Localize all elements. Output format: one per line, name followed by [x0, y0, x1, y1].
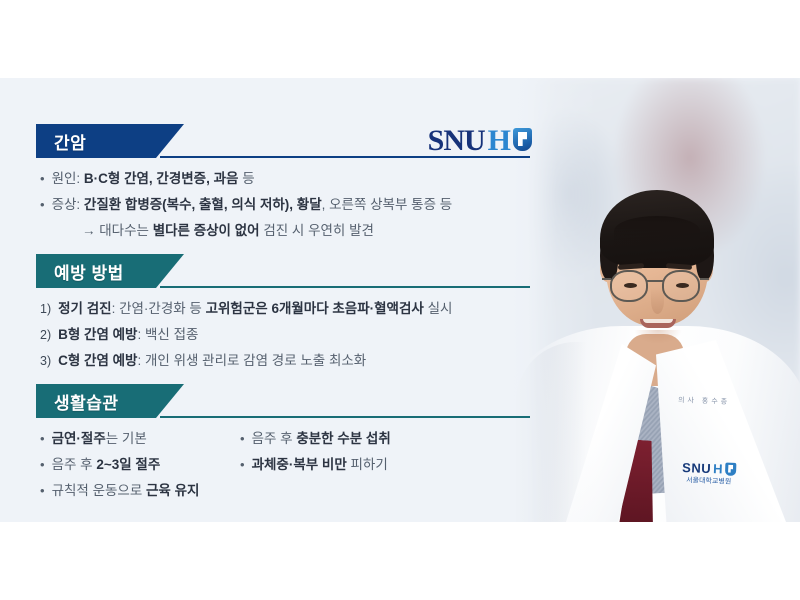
bullet-marker: • — [40, 452, 45, 478]
list-item-text: 규칙적 운동으로 근육 유지 — [52, 478, 200, 504]
list-item: • 과체중·복부 비만 피하기 — [240, 452, 391, 478]
list-item: 3) C형 간염 예방: 개인 위생 관리로 감염 경로 노출 최소화 — [40, 348, 520, 374]
bullet-marker: • — [240, 426, 245, 452]
list-item: • 증상: 간질환 합병증(복수, 출혈, 의식 저하), 황달, 오른쪽 상복… — [40, 192, 520, 218]
section-title-lifestyle: 생활습관 — [36, 384, 184, 418]
list-item-text: 원인: B·C형 간염, 간경변증, 과음 등 — [52, 166, 255, 192]
list-item: → 대다수는 별다른 증상이 없어 검진 시 우연히 발견 — [40, 218, 520, 244]
ordinal-marker: 2) — [40, 322, 51, 348]
list-item-text: B형 간염 예방: 백신 접종 — [58, 322, 198, 348]
snuh-logo-h: H — [488, 126, 510, 156]
section-title-liver-cancer: 간암 — [36, 124, 184, 158]
infographic-card: 의사 홍수종 SNUH 서울대학교병원 — [0, 78, 800, 522]
snuh-logo-snu: SNU — [428, 126, 485, 156]
bullet-marker: • — [40, 166, 45, 192]
list-item-text: 음주 후 충분한 수분 섭취 — [252, 426, 391, 452]
section-header-row: 생활습관 — [0, 384, 520, 418]
list-item: • 음주 후 충분한 수분 섭취 — [240, 426, 391, 452]
ordinal-marker: 3) — [40, 348, 51, 374]
list-item-text: C형 간염 예방: 개인 위생 관리로 감염 경로 노출 최소화 — [58, 348, 366, 374]
ordinal-marker: 1) — [40, 296, 51, 322]
list-item: 2) B형 간염 예방: 백신 접종 — [40, 322, 520, 348]
list-item: • 음주 후 2~3일 절주 — [40, 452, 240, 478]
lifestyle-column-right: • 음주 후 충분한 수분 섭취 • 과체중·복부 비만 피하기 — [240, 426, 391, 504]
section-body: 1) 정기 검진: 간염·간경화 등 고위험군은 6개월마다 초음파·혈액검사 … — [0, 288, 520, 374]
section-body: • 금연·절주는 기본 • 음주 후 2~3일 절주 • 규칙적 운동으로 근육… — [0, 418, 520, 504]
list-item: 1) 정기 검진: 간염·간경화 등 고위험군은 6개월마다 초음파·혈액검사 … — [40, 296, 520, 322]
list-item: • 금연·절주는 기본 — [40, 426, 240, 452]
photo-left-fade — [510, 78, 800, 522]
bullet-marker: • — [40, 192, 45, 218]
lifestyle-column-left: • 금연·절주는 기본 • 음주 후 2~3일 절주 • 규칙적 운동으로 근육… — [40, 426, 240, 504]
list-item: • 규칙적 운동으로 근육 유지 — [40, 478, 240, 504]
section-divider-line — [160, 286, 530, 288]
bullet-marker: • — [40, 426, 45, 452]
section-divider-line — [160, 416, 530, 418]
snuh-shield-icon — [513, 128, 532, 151]
list-item-text: 증상: 간질환 합병증(복수, 출혈, 의식 저하), 황달, 오른쪽 상복부 … — [52, 192, 453, 218]
bullet-marker: • — [240, 452, 245, 478]
section-lifestyle: 생활습관 • 금연·절주는 기본 • 음주 후 2~3일 절주 • 규칙적 운동… — [0, 384, 520, 504]
list-item-text: 금연·절주는 기본 — [52, 426, 147, 452]
snuh-logo: SNUH — [428, 126, 532, 156]
section-header-row: 예방 방법 — [0, 254, 520, 288]
doctor-portrait-photo: 의사 홍수종 SNUH 서울대학교병원 — [510, 78, 800, 522]
list-item-text: 정기 검진: 간염·간경화 등 고위험군은 6개월마다 초음파·혈액검사 실시 — [58, 296, 452, 322]
list-item-text: → 대다수는 별다른 증상이 없어 검진 시 우연히 발견 — [82, 218, 374, 244]
section-body: • 원인: B·C형 간염, 간경변증, 과음 등 • 증상: 간질환 합병증(… — [0, 158, 520, 244]
bullet-marker: • — [40, 478, 45, 504]
list-item-text: 과체중·복부 비만 피하기 — [252, 452, 388, 478]
list-item-text: 음주 후 2~3일 절주 — [52, 452, 161, 478]
section-title-prevention: 예방 방법 — [36, 254, 184, 288]
section-prevention: 예방 방법 1) 정기 검진: 간염·간경화 등 고위험군은 6개월마다 초음파… — [0, 254, 520, 374]
list-item: • 원인: B·C형 간염, 간경변증, 과음 등 — [40, 166, 520, 192]
